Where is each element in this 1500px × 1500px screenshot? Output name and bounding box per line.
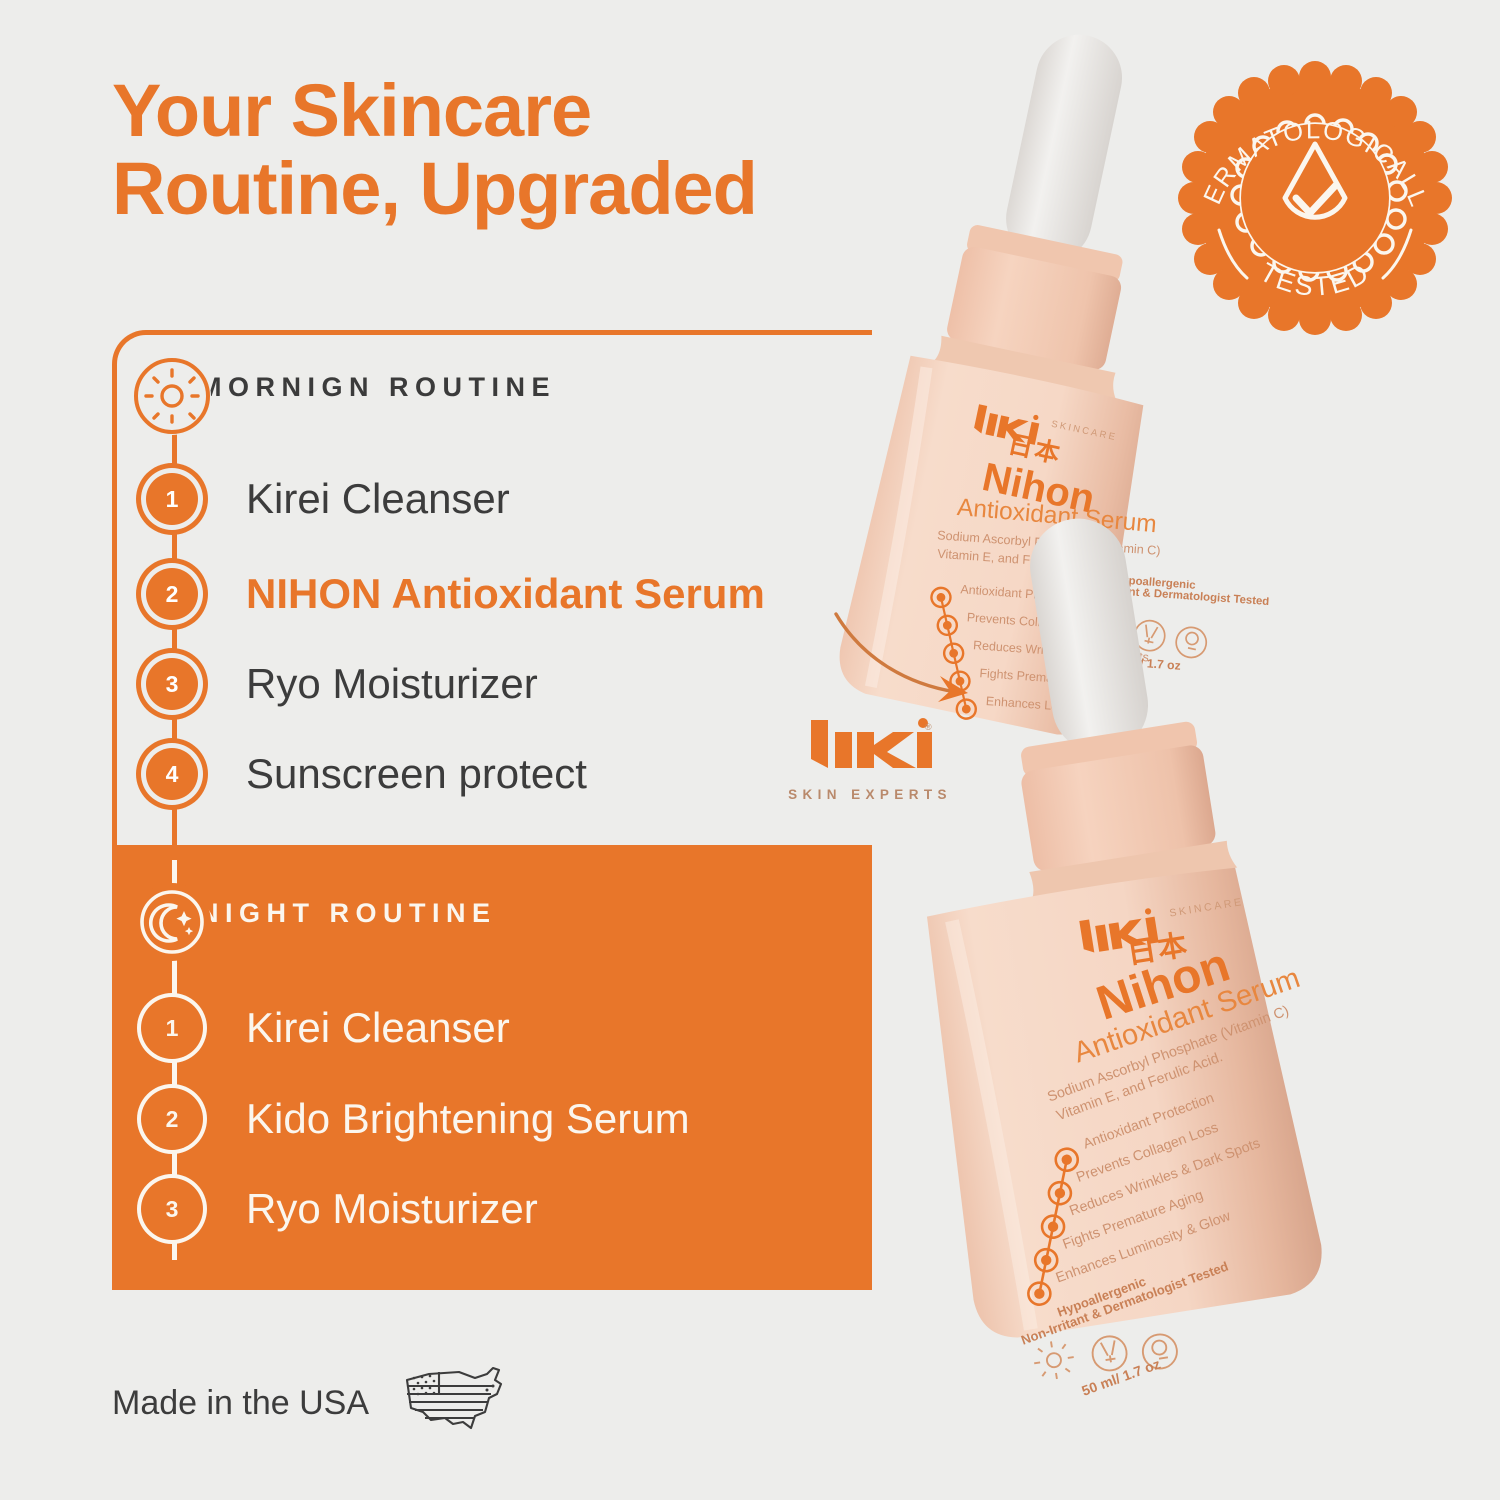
sun-icon	[133, 357, 211, 435]
step-number: 4	[146, 748, 198, 800]
step-label: Kirei Cleanser	[246, 475, 510, 523]
step-number: 2	[146, 568, 198, 620]
night-step-3[interactable]: 3 Ryo Moisturizer	[146, 1177, 538, 1241]
made-in-usa-footer: Made in the USA	[112, 1364, 509, 1443]
step-label: Ryo Moisturizer	[246, 660, 538, 708]
step-label: Ryo Moisturizer	[246, 1185, 538, 1233]
step-number: 3	[146, 1183, 198, 1235]
step-number: 3	[146, 658, 198, 710]
step-label: Sunscreen protect	[246, 750, 587, 798]
night-section-label: NIGHT ROUTINE	[199, 898, 497, 929]
infographic-canvas: Your Skincare Routine, Upgraded	[0, 0, 1500, 1500]
sun-icon	[1031, 1338, 1076, 1382]
morning-step-3[interactable]: 3 Ryo Moisturizer	[146, 652, 538, 716]
morning-section-label: MORNIGN ROUTINE	[199, 372, 556, 403]
dropper-bulb	[1023, 512, 1155, 760]
usa-map-flag-icon	[401, 1364, 509, 1443]
step-number: 1	[146, 473, 198, 525]
morning-step-2[interactable]: 2 NIHON Antioxidant Serum	[146, 562, 765, 626]
step-number: 1	[146, 1002, 198, 1054]
night-step-2[interactable]: 2 Kido Brightening Serum	[146, 1087, 690, 1151]
night-step-1[interactable]: 1 Kirei Cleanser	[146, 996, 510, 1060]
label-volume: 50 ml/ 1.7 oz	[1079, 1356, 1162, 1399]
page-headline: Your Skincare Routine, Upgraded	[112, 72, 972, 229]
headline-line-2: Routine, Upgraded	[112, 150, 972, 228]
morning-section-header: MORNIGN ROUTINE	[133, 372, 556, 403]
night-section-header: NIGHT ROUTINE	[133, 898, 497, 929]
morning-step-1[interactable]: 1 Kirei Cleanser	[146, 467, 510, 531]
dropper-bulb	[998, 27, 1130, 270]
step-number: 2	[146, 1093, 198, 1145]
step-label: Kido Brightening Serum	[246, 1095, 690, 1143]
brand-logo-tagline: SKIN EXPERTS	[770, 787, 970, 802]
brand-logo: ® SKIN EXPERTS	[770, 714, 970, 802]
step-label: NIHON Antioxidant Serum	[246, 570, 765, 618]
step-label: Kirei Cleanser	[246, 1004, 510, 1052]
morning-step-4[interactable]: 4 Sunscreen protect	[146, 742, 587, 806]
svg-text:®: ®	[925, 722, 932, 732]
iki-wordmark-icon: ®	[805, 714, 935, 776]
moon-stars-icon	[133, 883, 211, 961]
headline-line-1: Your Skincare	[112, 69, 591, 152]
made-in-usa-label: Made in the USA	[112, 1384, 369, 1423]
pointer-arrow-icon	[828, 596, 998, 716]
